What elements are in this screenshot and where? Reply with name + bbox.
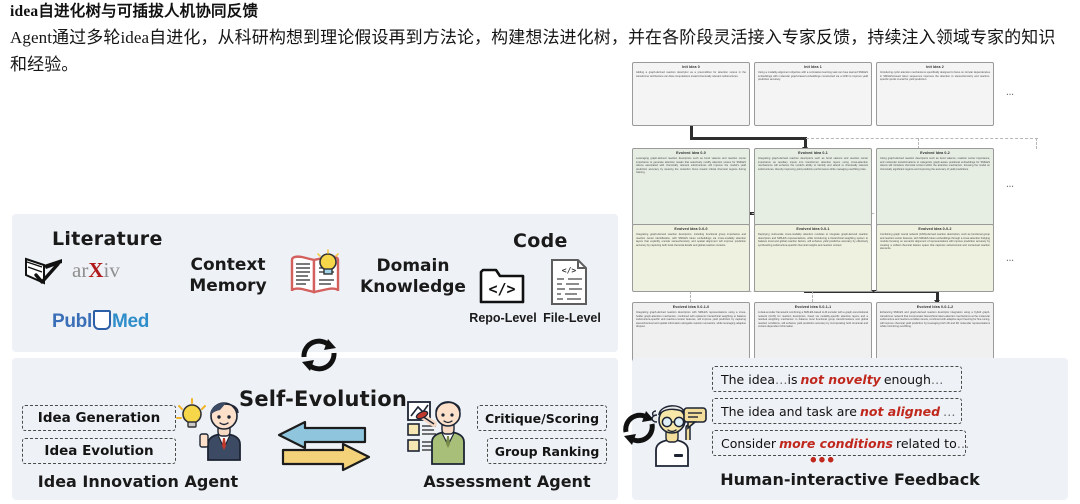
pubmed-book-icon — [93, 310, 111, 330]
feedback-emphasis: not aligned — [857, 404, 943, 419]
tree-node-evolved-0-1[interactable]: Evolved Idea 0-1 Integrating graph-deriv… — [754, 148, 872, 226]
idea-generation-label: Idea Generation — [38, 410, 160, 426]
idea-generation-box[interactable]: Idea Generation — [22, 405, 176, 431]
tree-connector-dashed — [1036, 138, 1037, 149]
domain-knowledge-line1: Domain — [358, 256, 468, 277]
assessment-agent-label: Assessment Agent — [392, 472, 622, 491]
code-folder-icon: </> — [478, 262, 526, 306]
node-body: Leveraging graph-derived reaction descri… — [633, 157, 749, 177]
node-body: Integrating graph-derived reaction descr… — [755, 157, 871, 173]
idea-evolution-tree: Init Idea 0 Adding a graph-derived react… — [618, 62, 1080, 354]
tree-connector — [690, 137, 806, 140]
tree-node-evolved-0-0-1-2[interactable]: Evolved Idea 0-0-1-2 Enhancing SMILES an… — [876, 302, 994, 366]
pubmed-logo: PublMed — [52, 310, 149, 333]
node-title: Evolved Idea 0-2 — [877, 149, 993, 157]
node-body: Integrating graph-derived reaction descr… — [633, 311, 749, 331]
tree-node-evolved-0-2[interactable]: Evolved Idea 0-2 Using graph-derived rea… — [876, 148, 994, 226]
tree-node-init-0[interactable]: Init Idea 0 Adding a graph-derived react… — [632, 62, 750, 126]
idea-evolution-box[interactable]: Idea Evolution — [22, 438, 176, 464]
critique-scoring-box[interactable]: Critique/Scoring — [477, 405, 607, 431]
pubmed-text-m: M — [112, 311, 128, 332]
group-ranking-box[interactable]: Group Ranking — [487, 438, 607, 464]
node-body: Integrating graph-derived reaction descr… — [633, 233, 749, 249]
context-memory-label: Context Memory — [182, 255, 274, 297]
node-title: Evolved Idea 0-0-1-0 — [633, 303, 749, 311]
feedback-text-post: enough — [884, 372, 931, 387]
node-title: Evolved Idea 0-0-1-2 — [877, 303, 993, 311]
node-body: A dual-encoder framework combining a SMI… — [755, 311, 871, 331]
feedback-text-pre: Consider — [721, 436, 776, 451]
node-body: Using a modality-alignment objective wit… — [755, 71, 871, 84]
self-evolution-label: Self-Evolution — [239, 387, 407, 411]
arxiv-text-post: iv — [104, 258, 120, 282]
tree-node-evolved-0-0-2[interactable]: Evolved Idea 0-0-2 Combining graph neura… — [876, 224, 994, 292]
node-title: Evolved Idea 0-0-1 — [755, 225, 871, 233]
pubmed-text-pre: Publ — [52, 311, 92, 332]
assessment-avatar-icon — [406, 398, 478, 464]
arxiv-text-x: X — [88, 258, 103, 282]
feedback-dots-2: … — [931, 372, 944, 387]
node-body: Enhancing SMILES and graph-derived react… — [877, 311, 993, 331]
idea-evolution-label: Idea Evolution — [44, 443, 153, 459]
pubmed-text-post: ed — [128, 311, 150, 332]
arxiv-text-pre: ar — [72, 258, 88, 282]
human-interactive-feedback-label: Human-interactive Feedback — [632, 470, 1068, 489]
tree-node-init-1[interactable]: Init Idea 1 Using a modality-alignment o… — [754, 62, 872, 126]
tree-node-evolved-0-0-1[interactable]: Evolved Idea 0-0-1 Deploying multi-scale… — [754, 224, 872, 292]
tree-ellipsis: … — [1006, 88, 1016, 97]
feedback-item-2[interactable]: Consider more conditions related to … — [712, 430, 966, 456]
node-body: Deploying multi-scale cross-modality att… — [755, 233, 871, 249]
feedback-dots-2: … — [957, 436, 970, 451]
page-title: idea自进化树与可插拔人机协同反馈 — [10, 2, 1072, 22]
group-ranking-label: Group Ranking — [495, 444, 600, 459]
tree-node-evolved-0-0-1-0[interactable]: Evolved Idea 0-0-1-0 Integrating graph-d… — [632, 302, 750, 366]
node-title: Evolved Idea 0-0-1-1 — [755, 303, 871, 311]
svg-text:</>: </> — [488, 280, 515, 298]
svg-text:</>: </> — [562, 266, 577, 275]
feedback-text-mid: is — [787, 372, 797, 387]
literature-label: Literature — [52, 228, 163, 250]
tree-node-evolved-0-0[interactable]: Evolved Idea 0-0 Leveraging graph-derive… — [632, 148, 750, 226]
feedback-dots-1: … — [775, 372, 788, 387]
feedback-dots-2: … — [943, 404, 956, 419]
tree-connector-dashed — [690, 291, 691, 302]
researcher-avatar-icon — [196, 398, 252, 460]
feedback-text-pre: The idea and task are — [721, 404, 857, 419]
node-title: Init Idea 0 — [633, 63, 749, 71]
tree-connector-dashed — [812, 291, 813, 302]
open-book-icon — [24, 255, 66, 285]
tree-ellipsis: … — [1006, 254, 1016, 263]
context-memory-line1: Context — [182, 255, 274, 276]
domain-knowledge-label: Domain Knowledge — [358, 256, 468, 298]
node-body: Introducing cyclic attention mechanisms … — [877, 71, 993, 84]
feedback-emphasis: not novelty — [797, 372, 883, 387]
node-title: Init Idea 2 — [877, 63, 993, 71]
node-title: Evolved Idea 0-0 — [633, 149, 749, 157]
feedback-text-pre: The idea — [721, 372, 775, 387]
book-lightbulb-icon — [288, 250, 342, 298]
tree-connector-dashed — [806, 138, 1038, 139]
refresh-cycle-icon — [298, 335, 340, 375]
node-title: Evolved Idea 0-0-0 — [633, 225, 749, 233]
node-body: Using graph-derived reaction descriptors… — [877, 157, 993, 173]
critique-scoring-label: Critique/Scoring — [485, 411, 599, 426]
feedback-emphasis: more conditions — [776, 436, 896, 451]
feedback-item-1[interactable]: The idea and task are not aligned … — [712, 398, 962, 424]
node-title: Evolved Idea 0-0-2 — [877, 225, 993, 233]
code-file-icon: </> — [548, 258, 590, 306]
code-label: Code — [513, 230, 568, 252]
tree-ellipsis: … — [1006, 180, 1016, 189]
context-memory-line2: Memory — [182, 276, 274, 297]
expert-avatar-icon — [648, 400, 712, 466]
tree-node-evolved-0-0-0[interactable]: Evolved Idea 0-0-0 Integrating graph-der… — [632, 224, 750, 292]
feedback-item-0[interactable]: The idea … is not novelty enough … — [712, 366, 962, 392]
node-body: Combining graph neural network (GNN)-der… — [877, 233, 993, 253]
feedback-ellipsis: ••• — [805, 456, 841, 466]
domain-knowledge-line2: Knowledge — [358, 277, 468, 298]
node-title: Evolved Idea 0-1 — [755, 149, 871, 157]
file-level-caption: File-Level — [540, 311, 604, 325]
idea-innovation-agent-label: Idea Innovation Agent — [16, 472, 260, 491]
tree-node-evolved-0-0-1-1[interactable]: Evolved Idea 0-0-1-1 A dual-encoder fram… — [754, 302, 872, 366]
node-body: Adding a graph-derived reaction descript… — [633, 71, 749, 80]
node-title: Init Idea 1 — [755, 63, 871, 71]
repo-level-caption: Repo-Level — [469, 311, 537, 325]
feedback-text-post: related to — [896, 436, 957, 451]
arxiv-logo: arXiv — [72, 258, 120, 283]
arrow-right-yellow-icon — [281, 442, 373, 472]
tree-node-init-2[interactable]: Init Idea 2 Introducing cyclic attention… — [876, 62, 994, 126]
